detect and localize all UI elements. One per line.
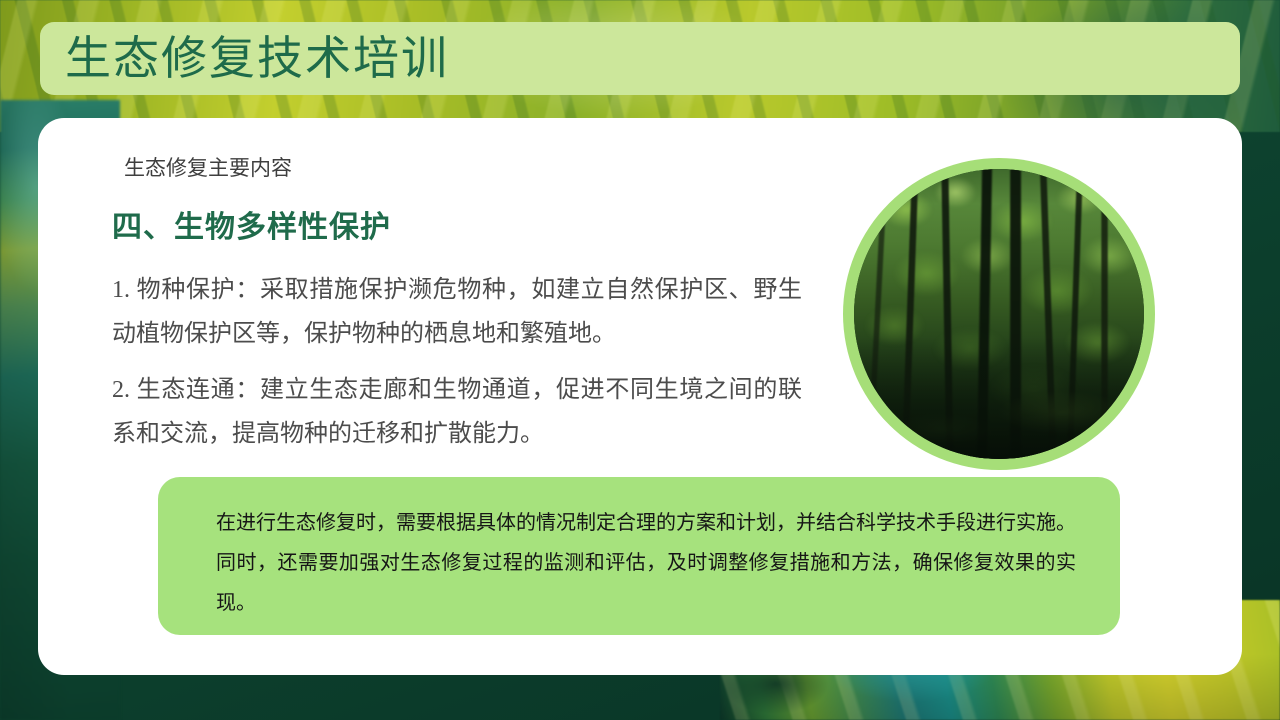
- forest-photo: [854, 169, 1144, 459]
- body-paragraph-2: 2. 生态连通：建立生态走廊和生物通道，促进不同生境之间的联系和交流，提高物种的…: [112, 368, 802, 456]
- section-heading: 四、生物多样性保护: [112, 202, 812, 246]
- body-paragraph-1: 1. 物种保护：采取措施保护濒危物种，如建立自然保护区、野生动植物保护区等，保护…: [112, 268, 802, 356]
- forest-photo-floor: [854, 169, 1144, 459]
- summary-callout-box: 在进行生态修复时，需要根据具体的情况制定合理的方案和计划，并结合科学技术手段进行…: [158, 477, 1120, 635]
- content-card: 生态修复主要内容 四、生物多样性保护 1. 物种保护：采取措施保护濒危物种，如建…: [38, 118, 1242, 675]
- slide-title: 生态修复技术培训: [65, 36, 449, 82]
- slide-title-bar: 生态修复技术培训: [40, 22, 1240, 95]
- content-kicker-label: 生态修复主要内容: [124, 152, 812, 182]
- text-column: 生态修复主要内容 四、生物多样性保护 1. 物种保护：采取措施保护濒危物种，如建…: [112, 152, 812, 468]
- presentation-slide: 生态修复技术培训 生态修复主要内容 四、生物多样性保护 1. 物种保护：采取措施…: [0, 0, 1280, 720]
- summary-callout-text: 在进行生态修复时，需要根据具体的情况制定合理的方案和计划，并结合科学技术手段进行…: [216, 503, 1076, 623]
- forest-photo-ring: [843, 158, 1155, 470]
